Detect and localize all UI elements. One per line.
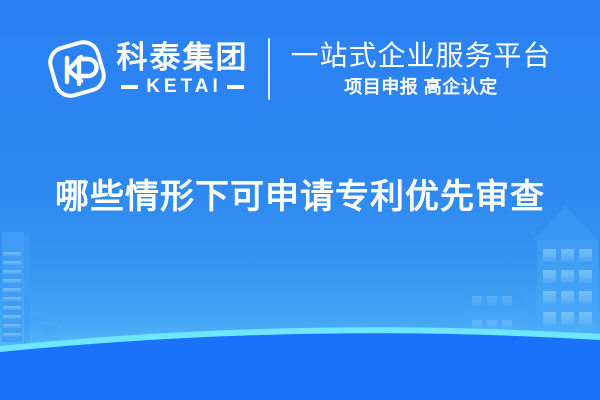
- brand-lockup: 科泰集团 KETAI: [48, 40, 248, 98]
- banner-header: 科泰集团 KETAI 一站式企业服务平台 项目申报 高企认定: [0, 28, 600, 110]
- brand-en-label: KETAI: [138, 77, 227, 97]
- dash-left-icon: [121, 85, 138, 89]
- left-skyscraper: [2, 232, 24, 342]
- right-peaked-tower: [533, 206, 598, 350]
- slogan-block: 一站式企业服务平台 项目申报 高企认定: [290, 39, 551, 99]
- dash-right-icon: [227, 85, 244, 89]
- brand-name-cn: 科泰集团: [116, 41, 248, 75]
- vertical-divider: [268, 38, 270, 100]
- page-title: 哪些情形下可申请专利优先审查: [0, 175, 600, 219]
- promo-banner: 科泰集团 KETAI 一站式企业服务平台 项目申报 高企认定 哪些情形下可申请专…: [0, 0, 600, 400]
- brand-text: 科泰集团 KETAI: [116, 41, 248, 97]
- horizon-arc: [0, 327, 600, 400]
- slogan-sub: 项目申报 高企认定: [344, 75, 498, 99]
- ketai-monogram-icon: [48, 40, 106, 98]
- brand-name-en: KETAI: [121, 77, 244, 97]
- slogan-main: 一站式企业服务平台: [290, 39, 551, 72]
